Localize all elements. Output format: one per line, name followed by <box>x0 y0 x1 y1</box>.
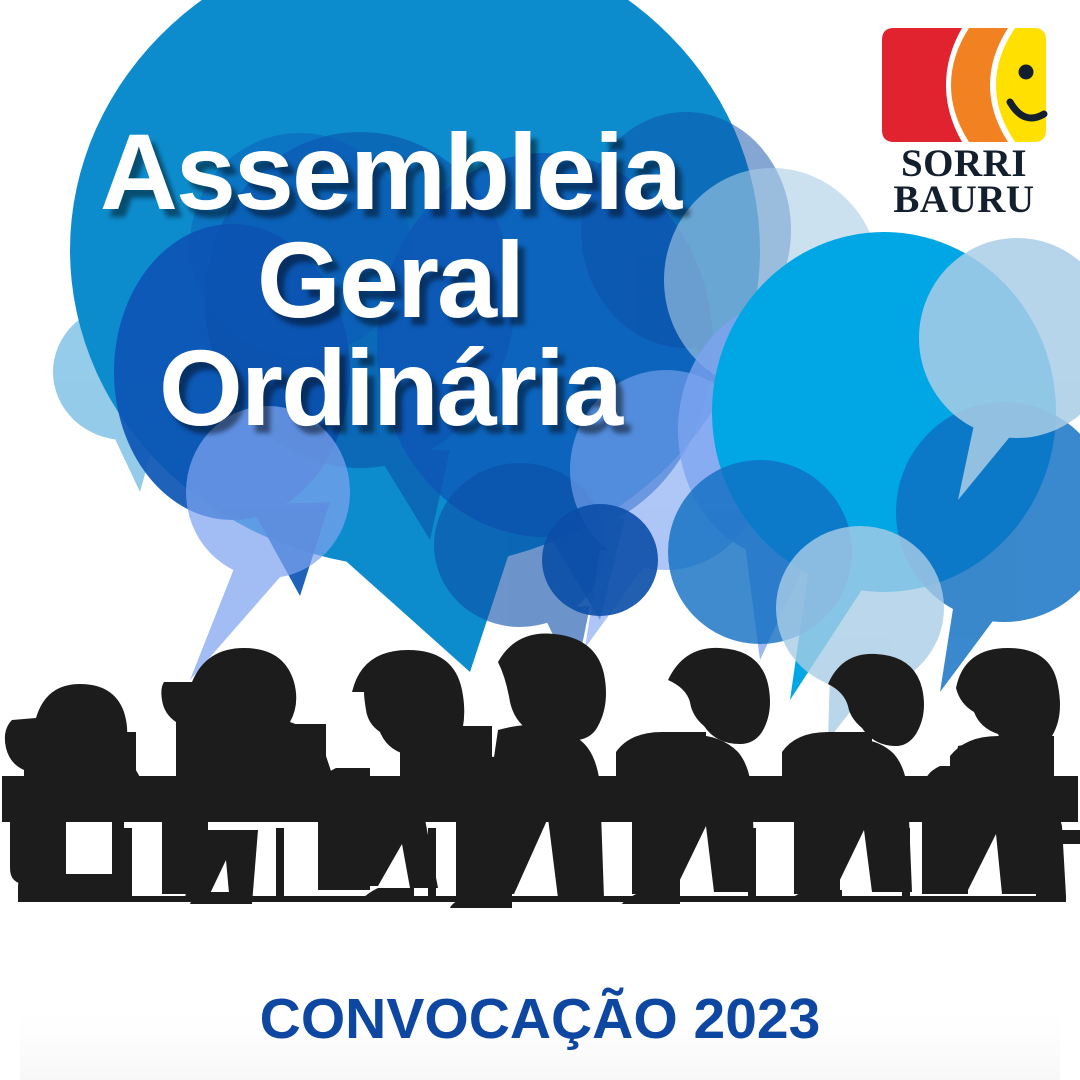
silhouette-people <box>2 634 1080 908</box>
poster-canvas: Assembleia Geral Ordinária SORRI BAURU <box>0 0 1080 1080</box>
logo-wordmark-line-2: BAURU <box>874 182 1054 218</box>
logo-wordmark: SORRI BAURU <box>874 146 1054 218</box>
bubble-dark-inner-6 <box>190 133 410 357</box>
sorri-bauru-smiley-logo-icon <box>874 26 1054 144</box>
footer-headline: CONVOCAÇÃO 2023 <box>0 986 1080 1052</box>
floor-line <box>18 896 1066 902</box>
sorri-bauru-logo: SORRI BAURU <box>874 26 1054 218</box>
logo-wordmark-line-1: SORRI <box>874 146 1054 182</box>
